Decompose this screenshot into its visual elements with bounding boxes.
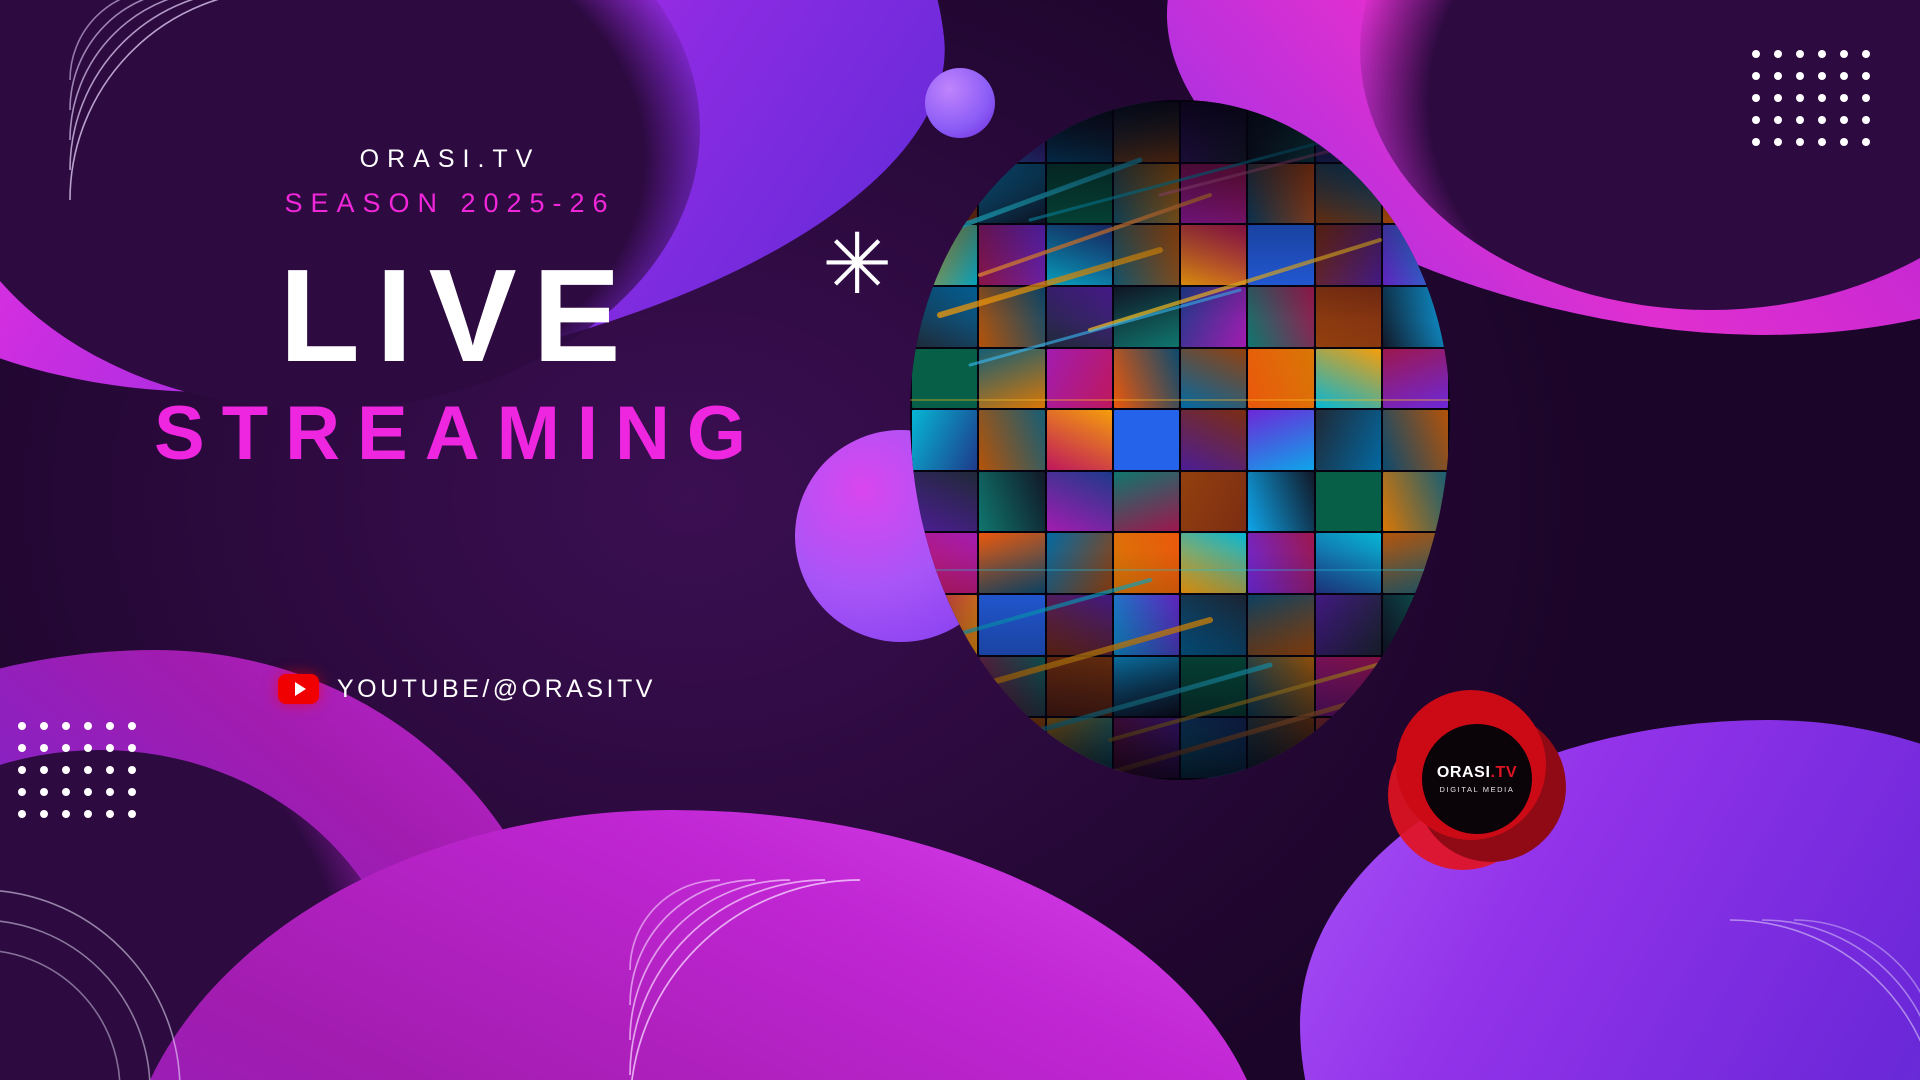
logo-core-disc: ORASI.TV DIGITAL MEDIA [1422,724,1532,834]
logo-name: ORASI [1437,764,1491,781]
headline-streaming: STREAMING [0,392,900,476]
collage-top-fade [910,100,1450,320]
orasi-logo-badge[interactable]: ORASI.TV DIGITAL MEDIA [1388,690,1566,868]
video-collage-oval [910,100,1450,780]
decor-dot-grid-top-right [1752,50,1870,146]
logo-tagline: DIGITAL MEDIA [1440,785,1515,794]
decor-dot-grid-bottom-left [18,722,136,818]
youtube-handle-row[interactable]: YOUTUBE/@ORASITV [278,674,656,704]
collage-bottom-fade [910,550,1450,780]
play-triangle-icon [295,682,306,696]
logo-wordmark: ORASI.TV [1437,765,1517,781]
youtube-play-icon[interactable] [278,674,319,704]
poster-canvas: ✳ ORASI.TV SEASON 2025-26 LIVE STREAMING… [0,0,1920,1080]
headline-block: ORASI.TV SEASON 2025-26 LIVE STREAMING [0,145,900,475]
season-label: SEASON 2025-26 [0,188,900,219]
brand-name: ORASI.TV [0,145,900,174]
headline-live: LIVE [0,249,900,384]
logo-tld: .TV [1490,764,1517,781]
youtube-handle-text: YOUTUBE/@ORASITV [337,675,656,704]
